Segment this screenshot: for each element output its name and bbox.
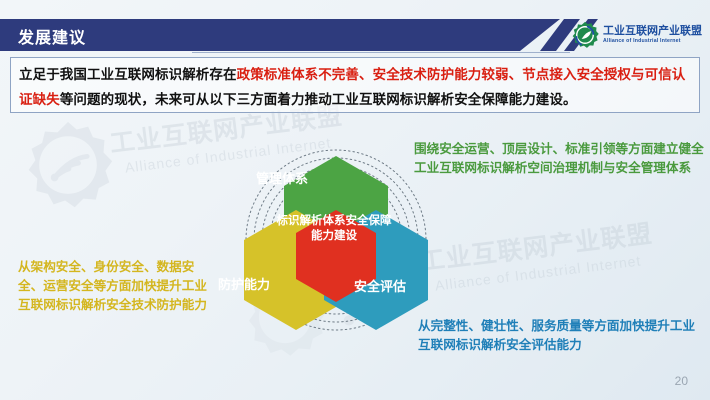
- hexagon-center-label: 标识解析体系安全保障能力建设: [274, 214, 394, 244]
- watermark-gear-icon: [20, 118, 116, 214]
- hexagon-assessment-label: 安全评估: [354, 276, 406, 295]
- header-underline: [192, 52, 570, 53]
- slide-canvas: 工业互联网产业联盟 Alliance of Industrial Interne…: [0, 0, 710, 400]
- hexagon-management-label: 管理体系: [256, 168, 308, 187]
- page-title: 发展建议: [18, 24, 86, 48]
- summary-segment-2: 等问题的现状，未来可从以下三方面着力推动工业互联网标识解析安全保障能力建设。: [60, 92, 577, 107]
- brand-logo: 工业互联网产业联盟 Alliance of Industrial Interne…: [571, 20, 702, 50]
- annotation-assessment: 从完整性、健壮性、服务质量等方面加快提升工业互联网标识解析安全评估能力: [418, 317, 704, 355]
- summary-paragraph: 立足于我国工业互联网标识解析存在政策标准体系不完善、安全技术防护能力较弱、节点接…: [19, 62, 693, 112]
- summary-textbox: 立足于我国工业互联网标识解析存在政策标准体系不完善、安全技术防护能力较弱、节点接…: [10, 57, 700, 113]
- annotation-protection: 从架构安全、身份安全、数据安全、运营安全等方面加快提升工业互联网标识解析安全技术…: [18, 258, 210, 315]
- hexagon-protection-label: 防护能力: [218, 274, 270, 293]
- gear-leaf-logo-icon: [571, 21, 599, 49]
- brand-name-cn: 工业互联网产业联盟: [603, 26, 702, 37]
- brand-logo-text: 工业互联网产业联盟 Alliance of Industrial Interne…: [603, 26, 702, 44]
- annotation-management: 围绕安全运营、顶层设计、标准引领等方面建立健全工业互联网标识解析空间治理机制与安…: [414, 140, 708, 178]
- page-number: 20: [675, 374, 688, 388]
- summary-segment-0: 立足于我国工业互联网标识解析存在: [19, 67, 237, 82]
- brand-name-en: Alliance of Industrial Internet: [603, 39, 702, 44]
